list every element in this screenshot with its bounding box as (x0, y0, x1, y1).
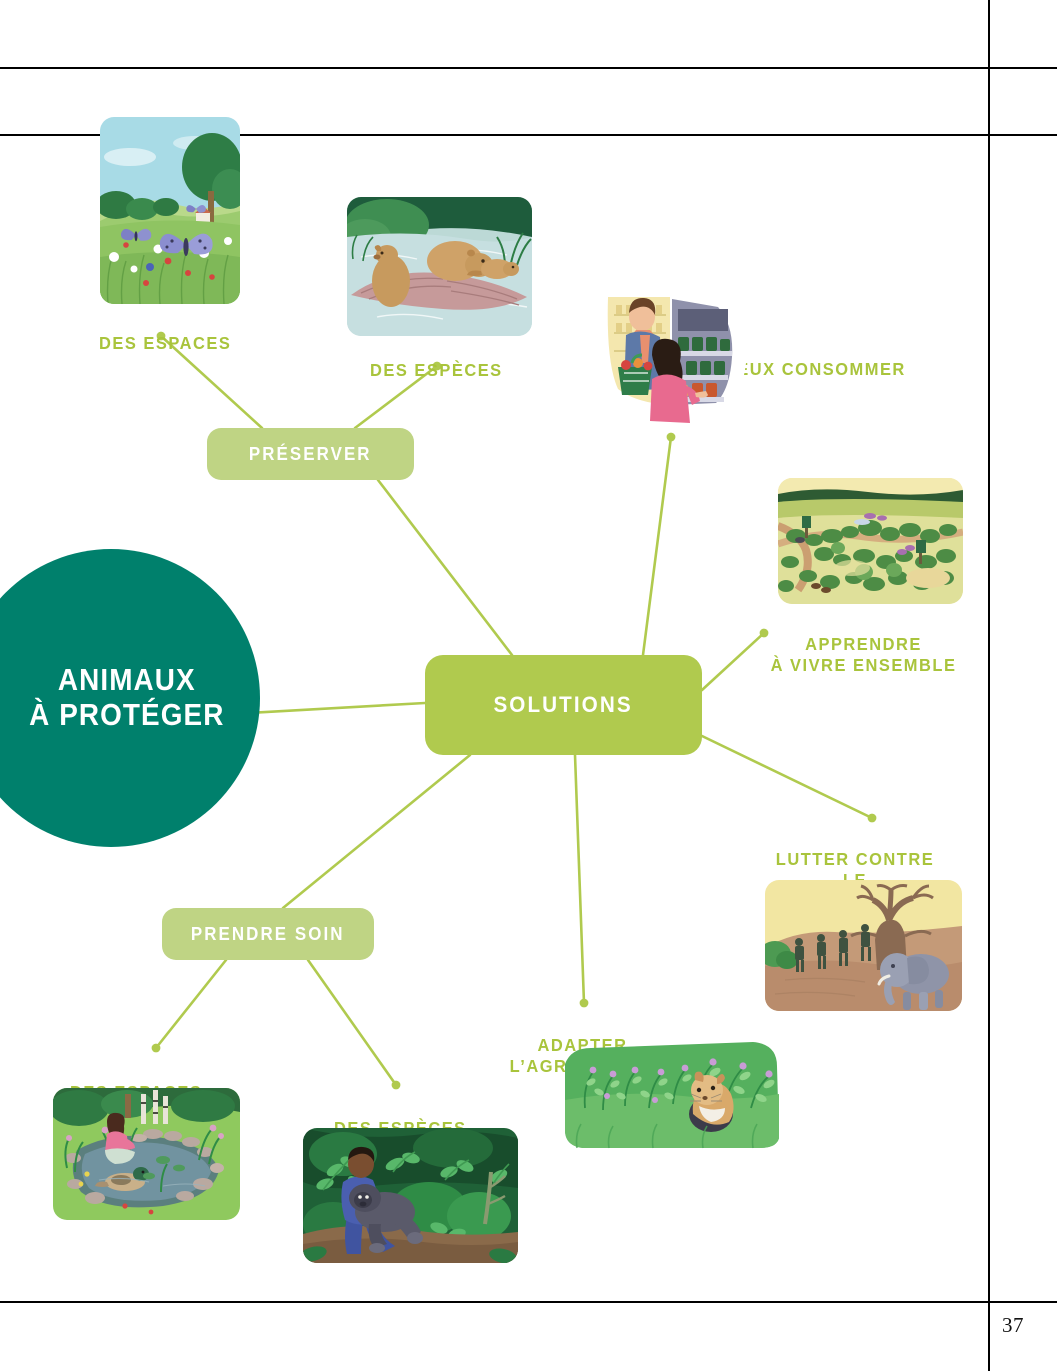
edge-dot-soin-espaces (152, 1044, 161, 1053)
illustration-savanna-aerial-view (778, 478, 963, 604)
edge-dot-braconnage (868, 814, 877, 823)
leaf-label-preserve-especes: DES ESPÈCES (370, 338, 511, 403)
edge-prendresoin-espaces (156, 960, 226, 1048)
node-prendre-soin-label: PRENDRE SOIN (191, 924, 345, 945)
edge-solutions-braconnage (702, 736, 872, 818)
page-canvas: 37 (0, 0, 1057, 1371)
edge-dot-agriculture (580, 999, 589, 1008)
crop-rule-bottom (0, 1301, 1057, 1303)
crop-rule-right (988, 0, 990, 1371)
leaf-text: DES ESPACES (99, 333, 231, 355)
node-solutions-label: SOLUTIONS (494, 692, 633, 718)
edge-solutions-agriculture (575, 755, 584, 1003)
illustration-garden-pond-with-duck (53, 1088, 240, 1220)
edge-solutions-prendresoin (283, 755, 470, 908)
illustration-beavers-on-riverbank (347, 197, 532, 336)
leaf-label-apprendre-a-vivre-ensemble: APPRENDRE À VIVRE ENSEMBLE (762, 612, 965, 699)
leaf-text: DES ESPÈCES (370, 360, 503, 382)
edge-solutions-preserver (378, 480, 512, 655)
edge-solutions-apprendre (702, 633, 764, 690)
node-preserver[interactable]: PRÉSERVER (207, 428, 414, 480)
central-node-label: ANIMAUX À PROTÉGER (0, 663, 224, 732)
node-solutions[interactable]: SOLUTIONS (425, 655, 702, 755)
node-preserver-label: PRÉSERVER (249, 444, 372, 465)
illustration-ranger-holding-gorilla (303, 1128, 518, 1263)
edge-dot-soin-especes (392, 1081, 401, 1090)
illustration-shoppers-at-grocery-shelf (600, 293, 752, 443)
page-number: 37 (1002, 1313, 1024, 1338)
node-prendre-soin[interactable]: PRENDRE SOIN (162, 908, 374, 960)
central-node-animaux-a-proteger[interactable]: ANIMAUX À PROTÉGER (0, 549, 260, 847)
illustration-hamster-in-flowering-field (563, 1038, 781, 1149)
edge-solutions-mieux (643, 437, 671, 655)
crop-rule-top-upper (0, 67, 1057, 69)
leaf-text: APPRENDRE À VIVRE ENSEMBLE (768, 634, 959, 677)
edge-hub-solutions (248, 703, 425, 713)
illustration-meadow-with-butterflies (100, 117, 240, 304)
edge-prendresoin-especes (308, 960, 396, 1085)
illustration-rangers-and-elephant-baobab (765, 880, 962, 1011)
leaf-label-preserve-espaces: DES ESPACES (99, 311, 240, 376)
